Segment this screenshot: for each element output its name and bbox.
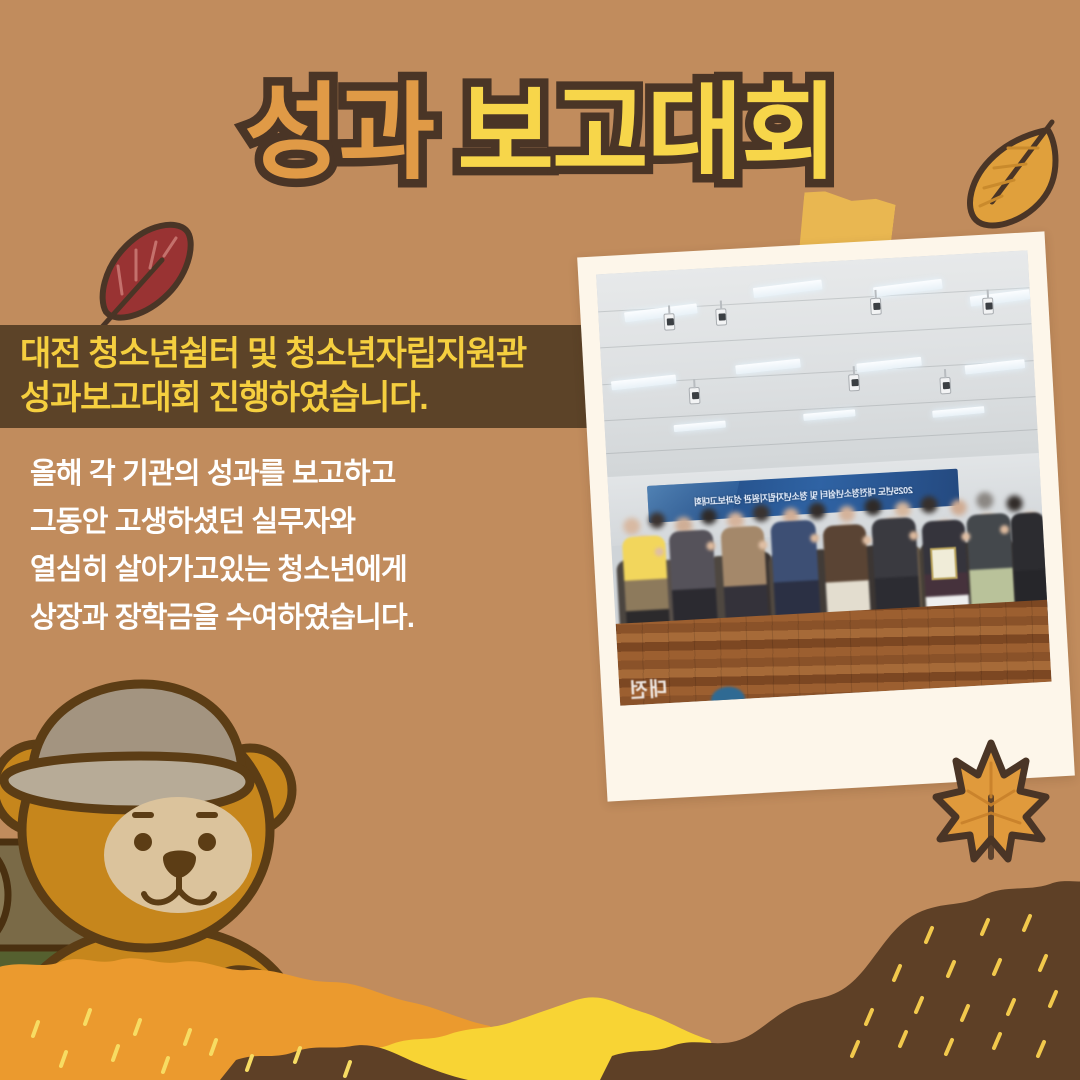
ceiling-spotlight xyxy=(848,374,860,392)
page-title: 성과 보고대회 xyxy=(0,78,1080,189)
photo-watermark: 대전 xyxy=(627,672,667,703)
body-line-3: 열심히 살아가고있는 청소년에게 xyxy=(30,546,570,594)
ceiling-spotlight xyxy=(982,297,994,315)
title-segment-orange: 성과 xyxy=(244,78,433,189)
headline-line-2: 성과보고대회 진행하였습니다. xyxy=(20,377,598,421)
photo-blue-object xyxy=(710,686,745,706)
photo-ceiling xyxy=(596,250,1039,477)
ceiling-spotlight xyxy=(663,313,675,331)
ceiling-spotlight xyxy=(870,297,882,315)
poster-card: 성과 보고대회 대전 청소년쉼터 및 청소년자립지원관 성과보고대회 진행하였습… xyxy=(0,0,1080,1080)
group-photo: 2025년도 대전청소년쉼터 및 청소년자립지원관 성과보고대회 xyxy=(596,250,1051,705)
headline-line-1: 대전 청소년쉼터 및 청소년자립지원관 xyxy=(20,333,598,377)
red-autumn-leaf-icon xyxy=(78,212,198,342)
ceiling-spotlight xyxy=(939,377,951,395)
body-line-4: 상장과 장학금을 수여하였습니다. xyxy=(30,594,570,642)
headline-banner: 대전 청소년쉼터 및 청소년자립지원관 성과보고대회 진행하였습니다. xyxy=(0,325,598,428)
body-paragraph: 올해 각 기관의 성과를 보고하고 그동안 고생하셨던 실무자와 열심히 살아가… xyxy=(30,450,570,643)
body-line-1: 올해 각 기관의 성과를 보고하고 xyxy=(30,450,570,498)
title-segment-yellow: 보고대회 xyxy=(457,78,835,189)
ceiling-spotlight xyxy=(689,387,701,405)
bottom-foliage xyxy=(0,870,1080,1080)
maple-leaf-icon xyxy=(930,735,1052,867)
body-line-2: 그동안 고생하셨던 실무자와 xyxy=(30,498,570,546)
ceiling-spotlight xyxy=(715,308,727,326)
polaroid-photo-frame: 2025년도 대전청소년쉼터 및 청소년자립지원관 성과보고대회 xyxy=(577,231,1075,801)
